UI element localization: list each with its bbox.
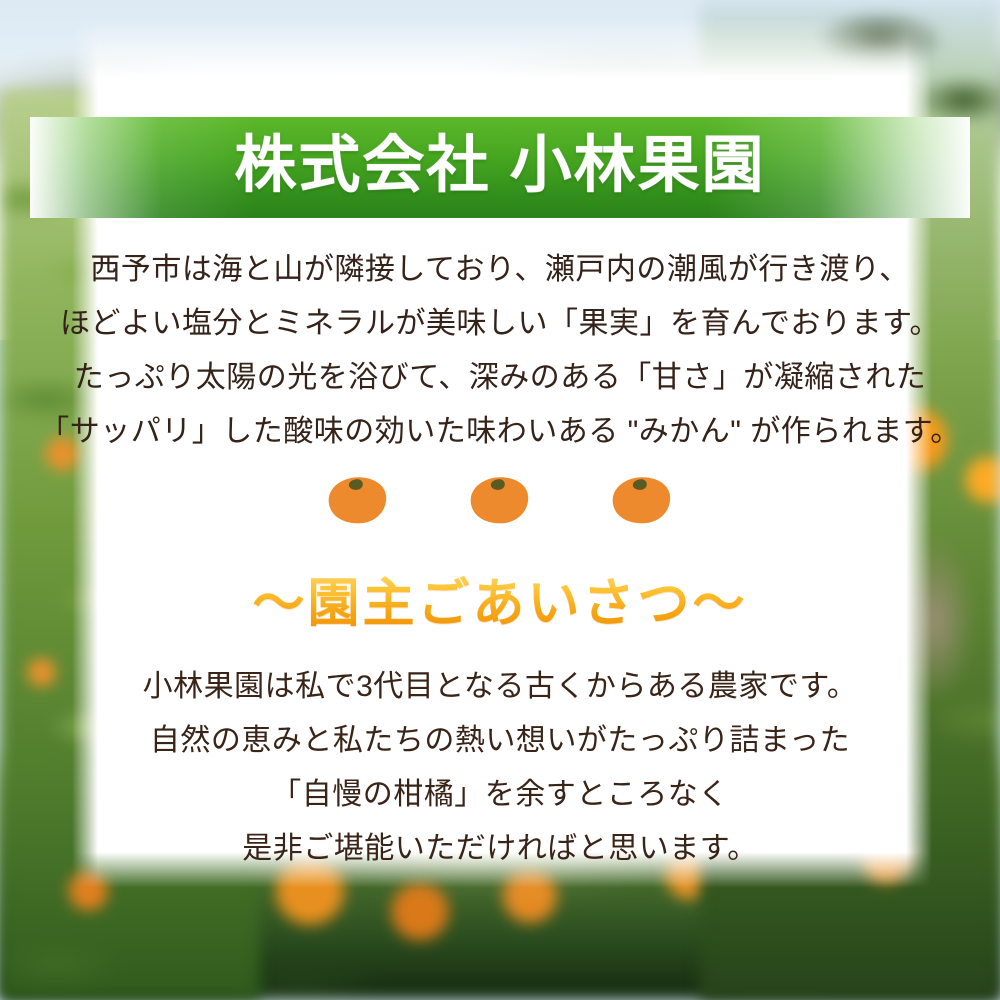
greeting-paragraph: 小林果園は私で3代目となる古くからある農家です。 自然の恵みと私たちの熱い想いが… <box>0 660 1000 876</box>
intro-line-3: たっぷり太陽の光を浴びて、深みのある「甘さ」が凝縮された <box>0 351 1000 405</box>
greeting-line-2: 自然の恵みと私たちの熱い想いがたっぷり詰まった <box>0 714 1000 768</box>
section-heading-greeting: 〜園主ごあいさつ〜 <box>0 575 1000 633</box>
mandarin-decoration-row <box>0 474 1000 526</box>
content-layer: 株式会社 小林果園 西予市は海と山が隣接しており、瀬戸内の潮風が行き渡り、 ほど… <box>0 0 1000 1000</box>
intro-line-1: 西予市は海と山が隣接しており、瀬戸内の潮風が行き渡り、 <box>0 243 1000 297</box>
mandarin-orange-icon <box>469 474 531 526</box>
mandarin-orange-icon <box>611 474 673 526</box>
intro-line-4: 「サッパリ」した酸味の効いた味わいある "みかん" が作られます。 <box>0 405 1000 459</box>
company-name-title: 株式会社 小林果園 <box>234 135 765 201</box>
promo-banner-page: 株式会社 小林果園 西予市は海と山が隣接しており、瀬戸内の潮風が行き渡り、 ほど… <box>0 0 1000 1000</box>
greeting-line-1: 小林果園は私で3代目となる古くからある農家です。 <box>0 660 1000 714</box>
greeting-line-3: 「自慢の柑橘」を余すところなく <box>0 768 1000 822</box>
greeting-line-4: 是非ご堪能いただければと思います。 <box>0 822 1000 876</box>
mandarin-orange-icon <box>327 474 389 526</box>
intro-paragraph: 西予市は海と山が隣接しており、瀬戸内の潮風が行き渡り、 ほどよい塩分とミネラルが… <box>0 243 1000 459</box>
intro-line-2: ほどよい塩分とミネラルが美味しい「果実」を育んでおります。 <box>0 297 1000 351</box>
company-title-banner: 株式会社 小林果園 <box>30 117 970 218</box>
